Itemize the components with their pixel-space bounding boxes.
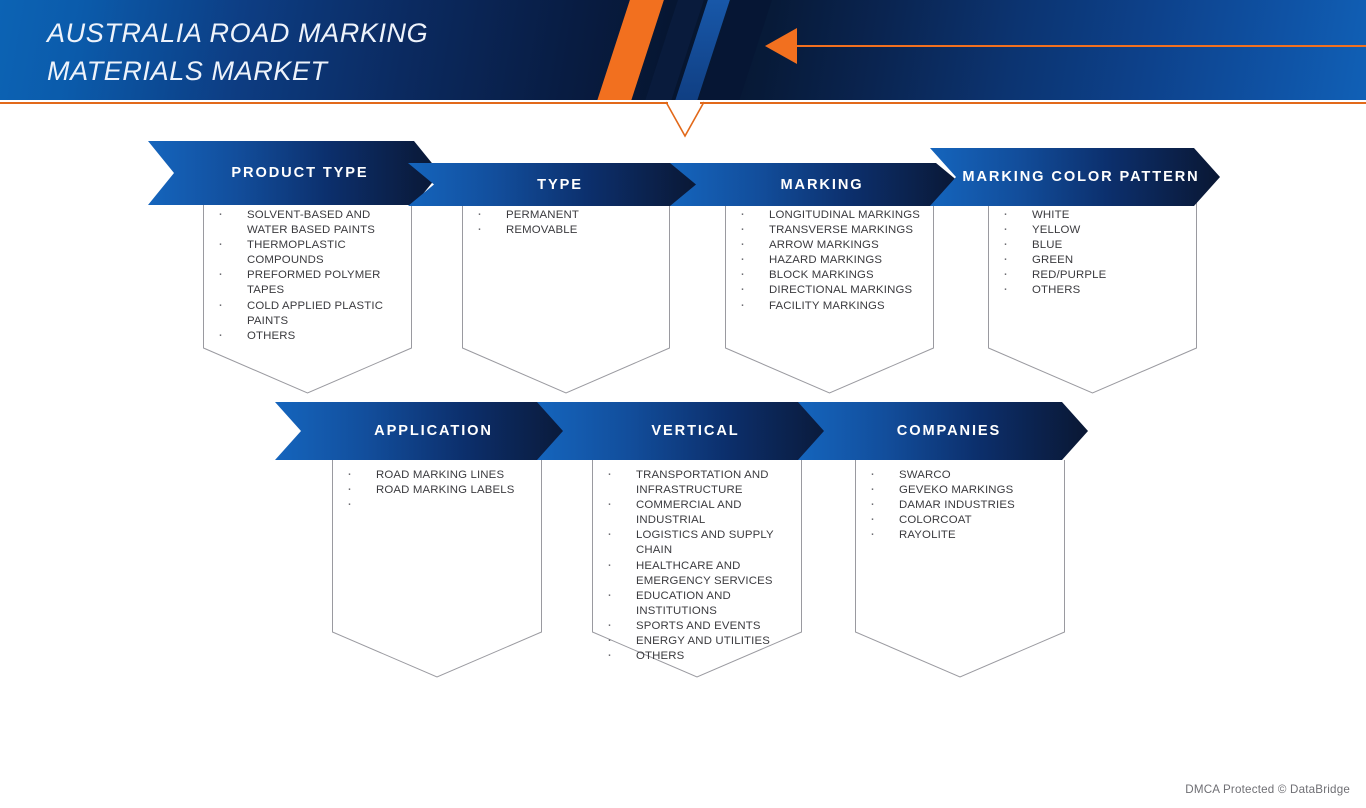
list-item: HEALTHCARE AND EMERGENCY SERVICES bbox=[598, 559, 792, 589]
divider-line-left bbox=[0, 102, 668, 104]
banner-shape bbox=[798, 402, 1088, 460]
segment-card-product-type: SOLVENT-BASED AND WATER BASED PAINTSTHER… bbox=[203, 200, 412, 394]
segment-banner-marking[interactable]: MARKING bbox=[670, 163, 962, 206]
segment-item-list: WHITEYELLOWBLUEGREENRED/PURPLEOTHERS bbox=[988, 200, 1197, 299]
segment-card-vertical: TRANSPORTATION AND INFRASTRUCTURECOMMERC… bbox=[592, 460, 802, 678]
list-item: OTHERS bbox=[994, 283, 1187, 298]
list-item: ARROW MARKINGS bbox=[731, 238, 924, 253]
list-item: THERMOPLASTIC COMPOUNDS bbox=[209, 238, 402, 268]
list-item: FACILITY MARKINGS bbox=[731, 299, 924, 314]
list-item: OTHERS bbox=[209, 329, 402, 344]
segment-banner-vertical[interactable]: VERTICAL bbox=[537, 402, 842, 460]
list-item: YELLOW bbox=[994, 223, 1187, 238]
list-item: LOGISTICS AND SUPPLY CHAIN bbox=[598, 528, 792, 558]
list-item: GEVEKO MARKINGS bbox=[861, 483, 1055, 498]
segment-card-type: PERMANENTREMOVABLE bbox=[462, 200, 670, 394]
footer-credit: DMCA Protected © DataBridge bbox=[1185, 783, 1350, 796]
list-item: OTHERS bbox=[598, 649, 792, 664]
list-item: REMOVABLE bbox=[468, 223, 660, 238]
list-item: DIRECTIONAL MARKINGS bbox=[731, 283, 924, 298]
segment-banner-marking-color-pattern[interactable]: MARKING COLOR PATTERN bbox=[930, 148, 1220, 206]
list-item: EDUCATION AND INSTITUTIONS bbox=[598, 589, 792, 619]
list-item: GREEN bbox=[994, 253, 1187, 268]
list-item bbox=[338, 498, 532, 513]
divider-line-right bbox=[700, 102, 1366, 104]
list-item: TRANSPORTATION AND INFRASTRUCTURE bbox=[598, 468, 792, 498]
segment-item-list: TRANSPORTATION AND INFRASTRUCTURECOMMERC… bbox=[592, 460, 802, 664]
segment-card-application: ROAD MARKING LINESROAD MARKING LABELS bbox=[332, 460, 542, 678]
segment-banner-companies[interactable]: COMPANIES bbox=[798, 402, 1088, 460]
segment-banner-type[interactable]: TYPE bbox=[408, 163, 700, 206]
segment-item-list: LONGITUDINAL MARKINGSTRANSVERSE MARKINGS… bbox=[725, 200, 934, 314]
list-item: RED/PURPLE bbox=[994, 268, 1187, 283]
banner-shape bbox=[148, 141, 440, 205]
list-item: SWARCO bbox=[861, 468, 1055, 483]
list-item: RAYOLITE bbox=[861, 528, 1055, 543]
list-item: SOLVENT-BASED AND WATER BASED PAINTS bbox=[209, 208, 402, 238]
list-item: WHITE bbox=[994, 208, 1187, 223]
list-item: DAMAR INDUSTRIES bbox=[861, 498, 1055, 513]
list-item: TRANSVERSE MARKINGS bbox=[731, 223, 924, 238]
list-item: HAZARD MARKINGS bbox=[731, 253, 924, 268]
list-item: COLORCOAT bbox=[861, 513, 1055, 528]
segment-card-companies: SWARCOGEVEKO MARKINGSDAMAR INDUSTRIESCOL… bbox=[855, 460, 1065, 678]
banner-shape bbox=[930, 148, 1220, 206]
list-item: LONGITUDINAL MARKINGS bbox=[731, 208, 924, 223]
list-item: ENERGY AND UTILITIES bbox=[598, 634, 792, 649]
banner-shape bbox=[670, 163, 962, 206]
list-item: ROAD MARKING LABELS bbox=[338, 483, 532, 498]
list-item: PREFORMED POLYMER TAPES bbox=[209, 268, 402, 298]
list-item: SPORTS AND EVENTS bbox=[598, 619, 792, 634]
banner-shape bbox=[408, 163, 700, 206]
list-item: COLD APPLIED PLASTIC PAINTS bbox=[209, 299, 402, 329]
list-item: PERMANENT bbox=[468, 208, 660, 223]
list-item: BLUE bbox=[994, 238, 1187, 253]
list-item: BLOCK MARKINGS bbox=[731, 268, 924, 283]
header-divider bbox=[0, 96, 1366, 140]
page-title: AUSTRALIA ROAD MARKING MATERIALS MARKET bbox=[47, 14, 567, 90]
segment-card-marking-color-pattern: WHITEYELLOWBLUEGREENRED/PURPLEOTHERS bbox=[988, 200, 1197, 394]
arrow-rule bbox=[795, 45, 1366, 47]
segment-card-marking: LONGITUDINAL MARKINGSTRANSVERSE MARKINGS… bbox=[725, 200, 934, 394]
list-item: ROAD MARKING LINES bbox=[338, 468, 532, 483]
segment-banner-product-type[interactable]: PRODUCT TYPE bbox=[148, 141, 440, 205]
banner-shape bbox=[275, 402, 580, 460]
banner-shape bbox=[537, 402, 842, 460]
segment-item-list: SWARCOGEVEKO MARKINGSDAMAR INDUSTRIESCOL… bbox=[855, 460, 1065, 543]
segment-item-list: ROAD MARKING LINESROAD MARKING LABELS bbox=[332, 460, 542, 513]
list-item: COMMERCIAL AND INDUSTRIAL bbox=[598, 498, 792, 528]
segment-item-list: SOLVENT-BASED AND WATER BASED PAINTSTHER… bbox=[203, 200, 412, 344]
page-header: AUSTRALIA ROAD MARKING MATERIALS MARKET bbox=[0, 0, 1366, 100]
left-arrow-icon bbox=[765, 28, 797, 64]
divider-notch-icon bbox=[664, 100, 706, 138]
segment-banner-application[interactable]: APPLICATION bbox=[275, 402, 580, 460]
